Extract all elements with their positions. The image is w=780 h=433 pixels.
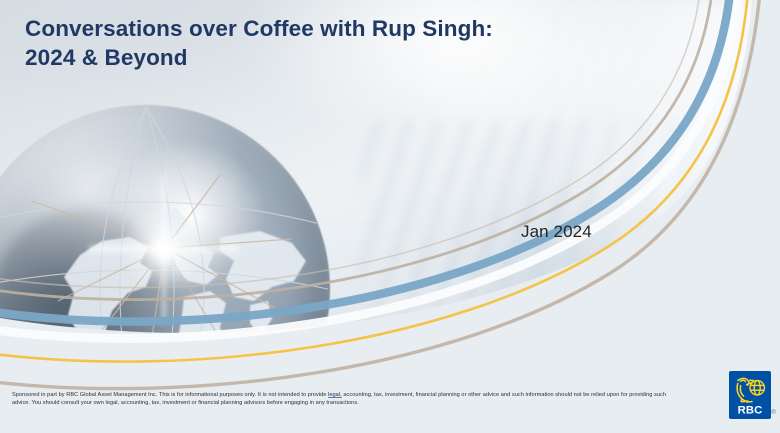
slide-date: Jan 2024 [521,222,592,242]
rbc-lion-globe-shield-icon: RBC [729,371,771,419]
registered-trademark-mark: ® [769,409,778,418]
rbc-logo: RBC ® [729,371,771,419]
disclaimer-text: Sponsored in part by RBC Global Asset Ma… [12,392,684,407]
page-title: Conversations over Coffee with Rup Singh… [25,14,585,72]
svg-text:RBC: RBC [738,404,763,416]
disclaimer-text-part1: Sponsored in part by RBC Global Asset Ma… [12,392,328,398]
glass-globe-image [0,105,330,360]
disclaimer-legal-link[interactable]: legal, [328,392,342,398]
presentation-slide: Conversations over Coffee with Rup Singh… [0,0,780,433]
